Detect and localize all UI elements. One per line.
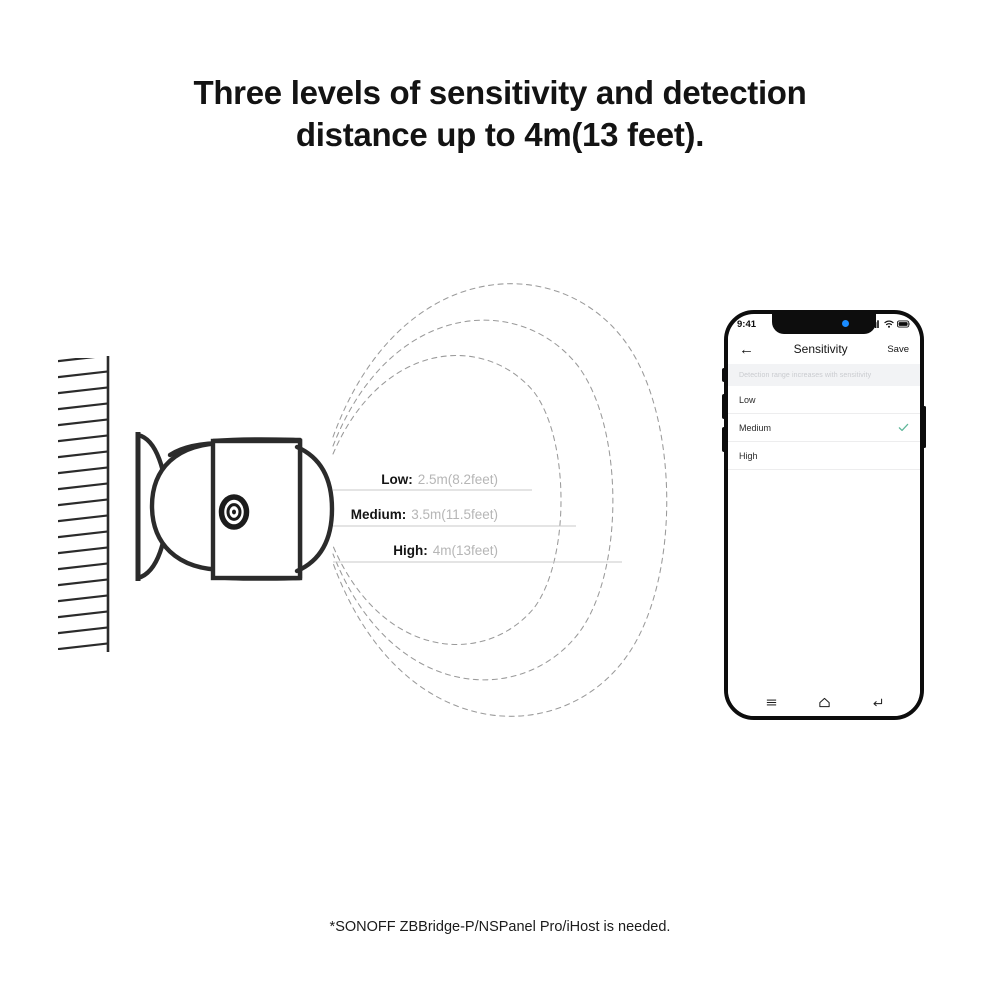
sensitivity-option-list: Low Medium High (728, 386, 920, 470)
back-arrow-icon[interactable]: ← (739, 342, 754, 357)
sensitivity-option-low-label: Low (739, 395, 756, 405)
save-button[interactable]: Save (887, 344, 909, 355)
hint-bar: Detection range increases with sensitivi… (728, 364, 920, 386)
phone-screen: 9:41 (724, 310, 924, 720)
sensitivity-option-medium-label: Medium (739, 423, 771, 433)
wall (50, 355, 112, 666)
detection-cone-medium (333, 320, 613, 680)
footnote: *SONOFF ZBBridge-P/NSPanel Pro/iHost is … (0, 919, 1000, 935)
wifi-icon (884, 320, 894, 328)
camera-front-cap (297, 447, 332, 571)
wall-hatching (50, 355, 112, 666)
back-icon[interactable] (871, 696, 884, 709)
detection-cone-high (333, 284, 667, 717)
sensitivity-option-high[interactable]: High (728, 442, 920, 470)
sensitivity-option-medium[interactable]: Medium (728, 414, 920, 442)
app-bar: ← Sensitivity Save (728, 334, 920, 364)
sensitivity-option-high-label: High (739, 451, 758, 461)
sensitivity-option-low[interactable]: Low (728, 386, 920, 414)
battery-icon (897, 320, 911, 328)
app-bar-title: Sensitivity (794, 342, 848, 356)
hint-text: Detection range increases with sensitivi… (739, 372, 871, 379)
android-nav-bar (728, 688, 920, 716)
front-camera-dot-icon (842, 320, 849, 327)
cellular-signal-icon (870, 320, 881, 328)
phone-mockup: 9:41 (724, 310, 924, 720)
status-bar-time: 9:41 (737, 319, 756, 330)
status-bar-icons (870, 320, 911, 328)
camera-lens-icon (222, 497, 247, 527)
home-icon[interactable] (818, 696, 831, 709)
status-bar: 9:41 (728, 314, 920, 334)
detection-cone-low (333, 356, 561, 645)
menu-icon[interactable] (765, 696, 778, 709)
check-icon (898, 422, 909, 433)
